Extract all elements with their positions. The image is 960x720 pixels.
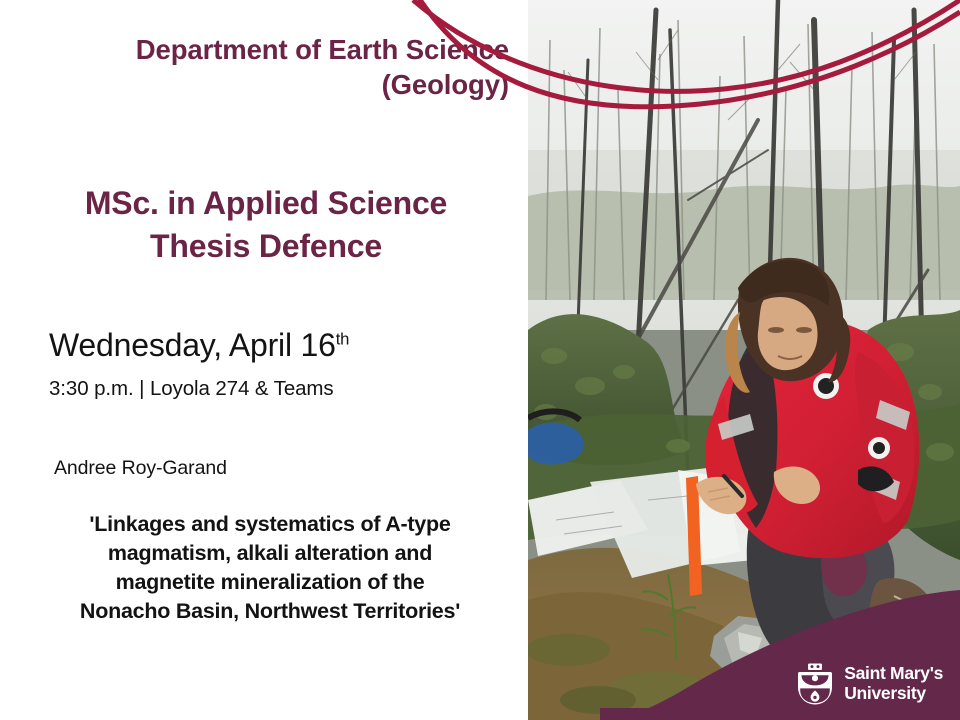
thesis-title-line-1: 'Linkages and systematics of A-type [24,510,516,539]
event-date: Wednesday, April 16th [49,327,349,364]
thesis-defence-poster: Department of Earth Science (Geology) MS… [0,0,960,720]
department-line-2: (Geology) [24,67,509,102]
university-name-line-2: University [844,684,943,704]
event-date-text: Wednesday, April 16 [49,327,336,363]
department-line-1: Department of Earth Science [24,32,509,67]
thesis-title-line-2: magmatism, alkali alteration and [24,539,516,568]
thesis-title-line-3: magnetite mineralization of the [24,568,516,597]
poster-text-panel: Department of Earth Science (Geology) MS… [0,0,528,720]
degree-line-2: Thesis Defence [16,225,516,268]
thesis-title-line-4: Nonacho Basin, Northwest Territories' [24,597,516,626]
degree-title: MSc. in Applied Science Thesis Defence [16,182,516,267]
event-time-location: 3:30 p.m. | Loyola 274 & Teams [49,377,334,401]
university-logo-text: Saint Mary's University [844,664,943,703]
department-heading: Department of Earth Science (Geology) [24,32,509,102]
event-date-ordinal: th [336,329,349,348]
degree-line-1: MSc. in Applied Science [16,182,516,225]
university-name-line-1: Saint Mary's [844,664,943,684]
saint-marys-university-crest-icon [797,663,833,705]
university-logo: Saint Mary's University [797,663,943,705]
thesis-title: 'Linkages and systematics of A-type magm… [24,510,516,626]
presenter-name: Andree Roy-Garand [54,457,227,480]
